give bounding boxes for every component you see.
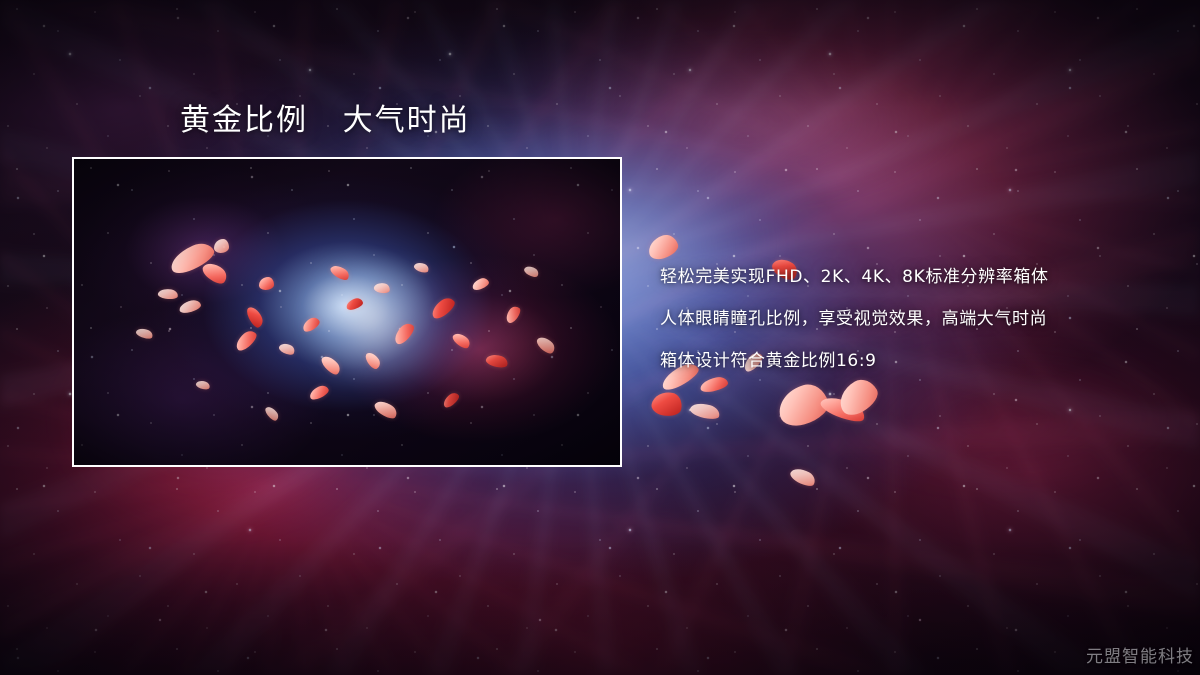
body-line-2: 人体眼睛瞳孔比例，享受视觉效果，高端大气时尚 [660,298,1160,340]
frame-vignette [74,159,620,465]
petal [788,465,818,490]
framed-image-panel [72,157,622,467]
watermark-label: 元盟智能科技 [1086,642,1194,667]
body-line-3: 箱体设计符合黄金比例16:9 [660,340,1160,382]
body-line-1: 轻松完美实现FHD、2K、4K、8K标准分辨率箱体 [660,256,1160,298]
page-title: 黄金比例 大气时尚 [180,103,471,139]
body-text-block: 轻松完美实现FHD、2K、4K、8K标准分辨率箱体 人体眼睛瞳孔比例，享受视觉效… [660,256,1160,382]
petal [689,400,722,422]
presentation-slide: 黄金比例 大气时尚 轻松完美实现FHD、2K、4K、8K标准分辨率箱体 人体眼睛… [0,0,1200,675]
petal [650,389,684,419]
